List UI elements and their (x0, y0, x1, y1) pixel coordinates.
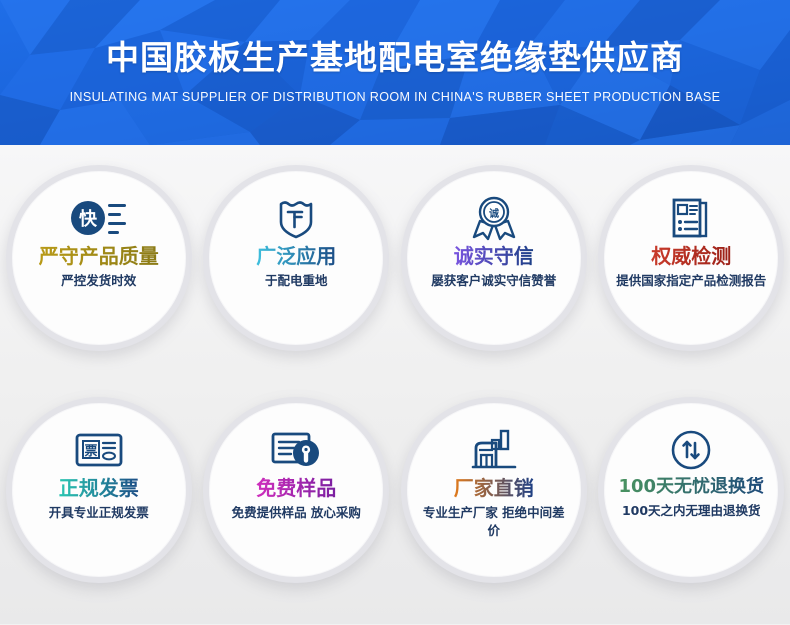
factory-icon (471, 427, 517, 473)
feature-circle-return-policy[interactable]: 100天无忧退换货 100天之内无理由退换货 (598, 397, 784, 583)
feature-desc: 严控发货时效 (24, 272, 174, 290)
report-document-icon (668, 195, 714, 241)
feature-desc: 屡获客户诚实守信赞誉 (419, 272, 569, 290)
promo-banner-page: 中国胶板生产基地配电室绝缘垫供应商 INSULATING MAT SUPPLIE… (0, 0, 790, 624)
feature-cell-6: 免费样品 免费提供样品 放心采购 (198, 397, 396, 625)
feature-circle-application[interactable]: 广泛应用 于配电重地 (203, 165, 389, 351)
feature-circle-free-sample[interactable]: 免费样品 免费提供样品 放心采购 (203, 397, 389, 583)
feature-cell-5: 票 正规发票 开具专业正规发票 (0, 397, 198, 625)
feature-title: 权威检测 (651, 245, 731, 268)
feature-desc: 开具专业正规发票 (24, 504, 174, 522)
feature-circle-certification[interactable]: 权威检测 提供国家指定产品检测报告 (598, 165, 784, 351)
feature-grid: 快 严守产品质量 严控发货时效 (0, 145, 790, 624)
feature-desc: 于配电重地 (221, 272, 371, 290)
feature-row-2: 票 正规发票 开具专业正规发票 (0, 397, 790, 625)
feature-title: 厂家直销 (454, 477, 534, 500)
feature-desc: 提供国家指定产品检测报告 (616, 272, 766, 290)
feature-cell-8: 100天无忧退换货 100天之内无理由退换货 (593, 397, 790, 625)
feature-title: 严守产品质量 (39, 245, 159, 268)
shield-icon (273, 195, 319, 241)
feature-title: 100天无忧退换货 (618, 477, 764, 498)
header-banner: 中国胶板生产基地配电室绝缘垫供应商 INSULATING MAT SUPPLIE… (0, 0, 790, 145)
award-ribbon-icon: 诚 (470, 195, 518, 241)
feature-circle-invoice[interactable]: 票 正规发票 开具专业正规发票 (6, 397, 192, 583)
feature-title: 正规发票 (59, 477, 139, 500)
feature-desc: 专业生产厂家 拒绝中间差价 (419, 504, 569, 540)
feature-title: 广泛应用 (256, 245, 336, 268)
feature-circle-integrity[interactable]: 诚 诚实守信 屡获客户诚实守信赞誉 (401, 165, 587, 351)
svg-text:票: 票 (84, 443, 97, 459)
exchange-arrows-icon (669, 427, 713, 473)
feature-cell-4: 权威检测 提供国家指定产品检测报告 (593, 165, 790, 393)
feature-cell-7: 厂家直销 专业生产厂家 拒绝中间差价 (395, 397, 593, 625)
feature-circle-quality[interactable]: 快 严守产品质量 严控发货时效 (6, 165, 192, 351)
feature-cell-1: 快 严守产品质量 严控发货时效 (0, 165, 198, 393)
banner-title: 中国胶板生产基地配电室绝缘垫供应商 (106, 41, 684, 74)
feature-circle-factory-direct[interactable]: 厂家直销 专业生产厂家 拒绝中间差价 (401, 397, 587, 583)
feature-title: 诚实守信 (454, 245, 534, 268)
feature-title: 免费样品 (256, 477, 336, 500)
svg-text:快: 快 (79, 208, 98, 230)
feature-desc: 免费提供样品 放心采购 (221, 504, 371, 522)
svg-text:诚: 诚 (489, 207, 499, 220)
invoice-icon: 票 (74, 427, 124, 473)
sample-wrench-card-icon (270, 427, 322, 473)
feature-row-1: 快 严守产品质量 严控发货时效 (0, 165, 790, 393)
speed-badge-icon: 快 (67, 195, 131, 241)
banner-subtitle: INSULATING MAT SUPPLIER OF DISTRIBUTION … (70, 90, 721, 104)
feature-desc: 100天之内无理由退换货 (616, 502, 766, 520)
feature-cell-2: 广泛应用 于配电重地 (198, 165, 396, 393)
feature-cell-3: 诚 诚实守信 屡获客户诚实守信赞誉 (395, 165, 593, 393)
